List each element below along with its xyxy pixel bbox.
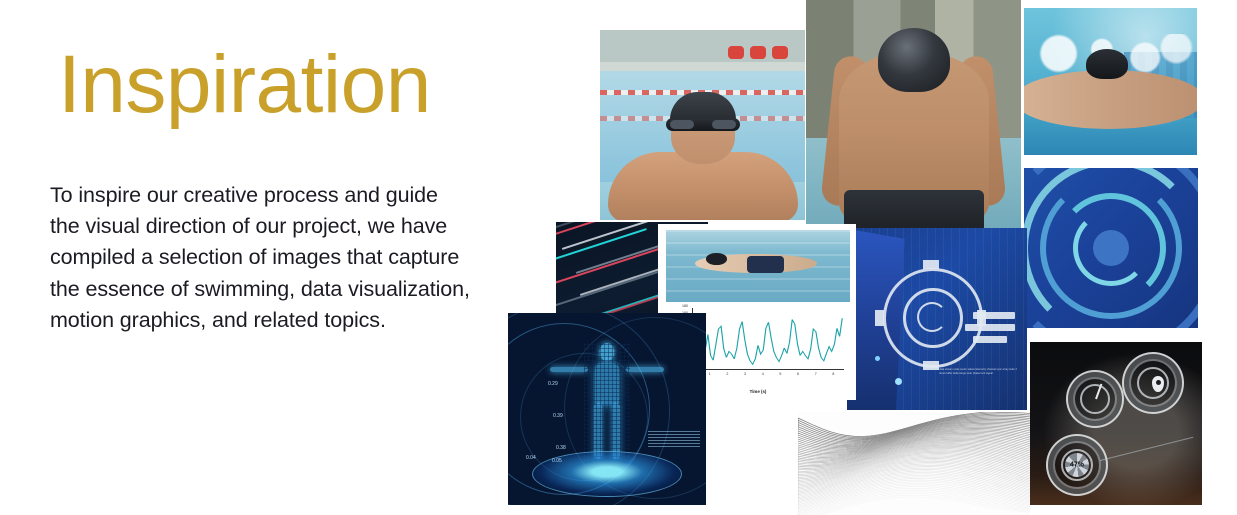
holo-body-art: 0.29 0.39 0.38 0.04 0.05 — [508, 313, 706, 505]
analysis-swimmer-photo — [666, 230, 850, 302]
image-collage: 47% — [0, 0, 1237, 515]
chart-y-tick: 180 — [682, 304, 688, 308]
chart-x-tick: 7 — [815, 372, 817, 376]
chart-x-tick: 5 — [779, 372, 781, 376]
collage-image-hud-dark: 47% — [1030, 342, 1202, 505]
chart-x-tick: 3 — [744, 372, 746, 376]
chart-x-tick: 1 — [709, 372, 711, 376]
map-pin-icon — [1152, 376, 1164, 392]
ripple-rings-art — [1024, 168, 1198, 328]
wave-lines-art — [798, 412, 1030, 515]
chart-x-tick: 8 — [832, 372, 834, 376]
chart-x-tick: 2 — [726, 372, 728, 376]
holo-readout-value: 0.29 — [548, 381, 558, 387]
chart-plot-area — [692, 308, 844, 370]
chart-x-axis-ticks: 012345678 — [692, 372, 844, 382]
chart-x-tick: 4 — [762, 372, 764, 376]
underwater-swimmer-art — [1024, 8, 1197, 155]
collage-image-hud-blue: data stream node vector status telemetry… — [847, 228, 1027, 410]
holo-readout-value: 0.04 — [526, 455, 536, 461]
holo-text-blurb — [648, 431, 700, 447]
holo-readout-value: 0.05 — [552, 458, 562, 464]
gauge-map — [1122, 352, 1184, 414]
collage-image-wave-lines — [798, 412, 1030, 515]
collage-image-ripple-rings — [1024, 168, 1198, 328]
swimmer-pool-edge-art — [600, 30, 805, 220]
gear-icon — [1065, 453, 1089, 477]
gauge-gear: 47% — [1046, 434, 1108, 496]
gauge-speedometer — [1066, 370, 1124, 428]
chart-x-tick: 6 — [797, 372, 799, 376]
hud-inner-ring — [917, 302, 947, 332]
collage-image-underwater-swimmer — [1024, 8, 1197, 155]
holo-readout-value: 0.39 — [553, 413, 563, 419]
gear-percent-label: 47% — [1070, 462, 1084, 469]
collage-image-holo-body: 0.29 0.39 0.38 0.04 0.05 — [508, 313, 706, 505]
swimmer-torso-art — [806, 0, 1021, 238]
hud-dark-art: 47% — [1030, 342, 1202, 505]
collage-image-swimmer-pool-edge — [600, 30, 805, 220]
holo-readout-value: 0.38 — [556, 445, 566, 451]
hud-blue-art: data stream node vector status telemetry… — [847, 228, 1027, 410]
collage-image-swimmer-torso — [806, 0, 1021, 238]
chart-line-path — [693, 308, 844, 369]
slide-canvas: Inspiration To inspire our creative proc… — [0, 0, 1237, 515]
